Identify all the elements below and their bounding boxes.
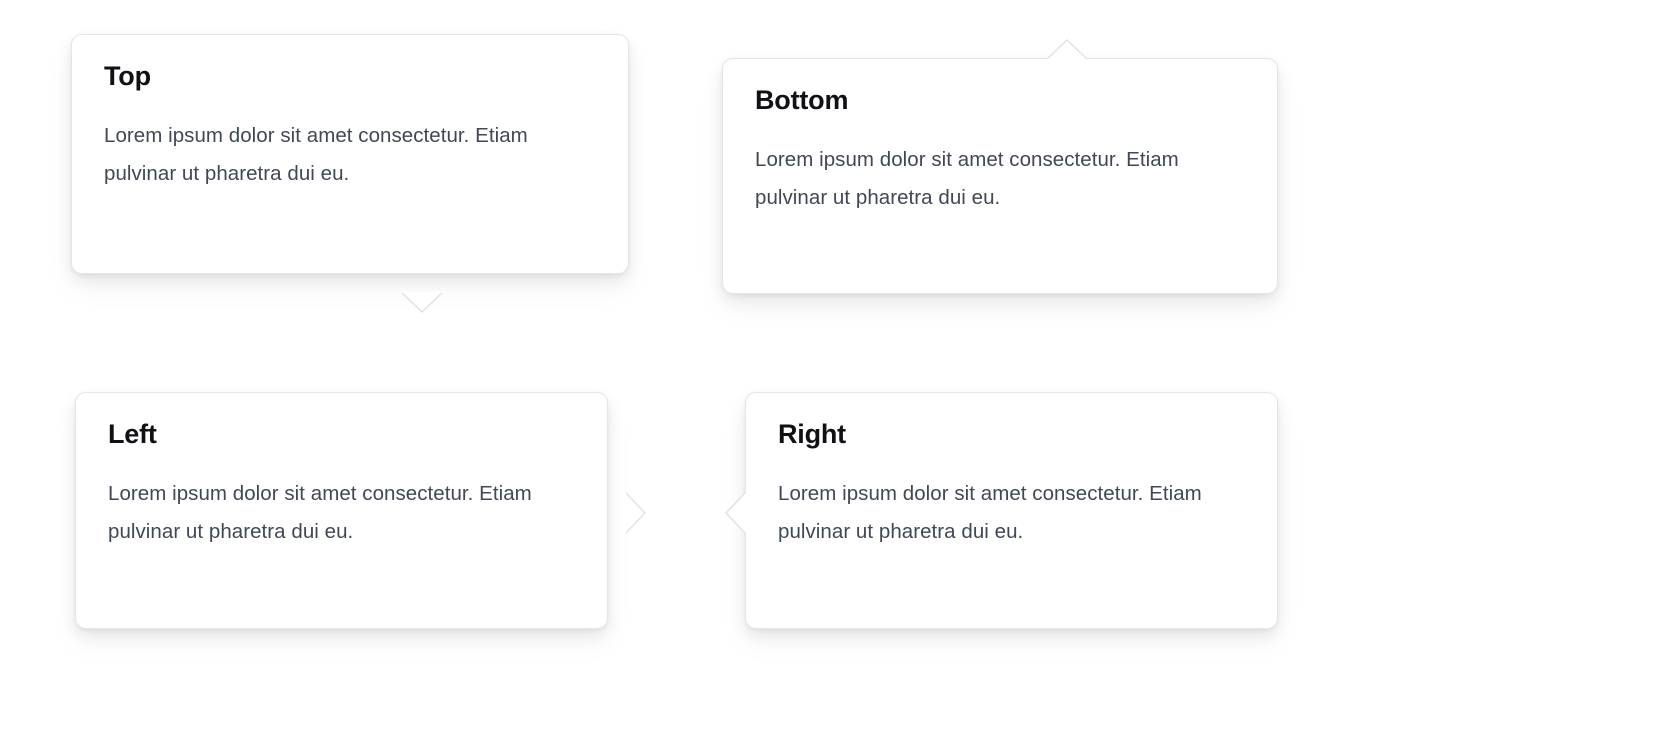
tooltip-card-bottom[interactable]: Bottom Lorem ipsum dolor sit amet consec… <box>722 58 1278 294</box>
tooltip-title-left: Left <box>108 419 577 449</box>
tooltip-body-top: Lorem ipsum dolor sit amet consectetur. … <box>104 117 598 193</box>
tooltip-showcase-canvas: Top Lorem ipsum dolor sit amet consectet… <box>0 0 1672 740</box>
tooltip-card-top[interactable]: Top Lorem ipsum dolor sit amet consectet… <box>71 34 629 274</box>
tooltip-body-bottom: Lorem ipsum dolor sit amet consectetur. … <box>755 141 1247 217</box>
tooltip-body-left: Lorem ipsum dolor sit amet consectetur. … <box>108 475 577 551</box>
tooltip-title-bottom: Bottom <box>755 85 1247 115</box>
tooltip-card-left[interactable]: Left Lorem ipsum dolor sit amet consecte… <box>75 392 608 629</box>
tooltip-card-right[interactable]: Right Lorem ipsum dolor sit amet consect… <box>745 392 1278 629</box>
tooltip-title-right: Right <box>778 419 1247 449</box>
tooltip-title-top: Top <box>104 61 598 91</box>
tooltip-body-right: Lorem ipsum dolor sit amet consectetur. … <box>778 475 1247 551</box>
